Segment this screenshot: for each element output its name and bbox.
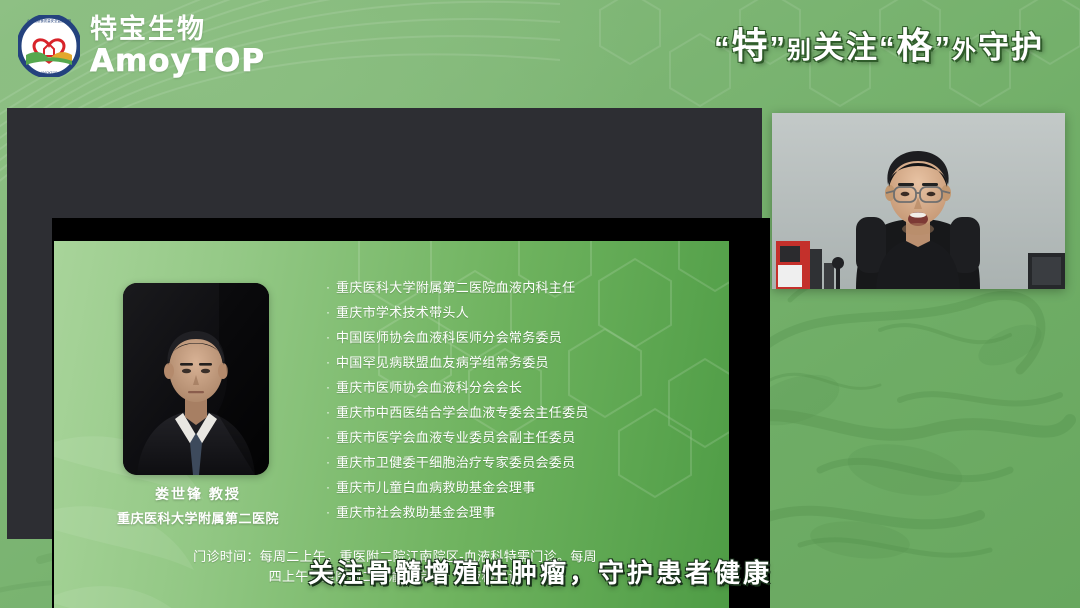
title-quote-close-1: ” [769,30,787,65]
credential-text: 重庆医科大学附属第二医院血液内科主任 [336,277,575,298]
speaker-identity: 娄世锋 教授 重庆医科大学附属第二医院 [78,484,318,527]
bullet-marker-icon: · [320,302,336,323]
credentials-list: · 重庆医科大学附属第二医院血液内科主任 · 重庆市学术技术带头人 · 中国医师… [320,277,720,527]
sponsor-brand: 山东省粮食质量安全监管监测 · AMOYTOP · 特宝生物 AmoyTOP [18,14,265,77]
bullet-marker-icon: · [320,377,336,398]
brand-name-cn: 特宝生物 [90,16,265,43]
speaker-video-tile[interactable] [772,113,1065,289]
title-char-wai: 外 [952,37,978,64]
bullet-marker-icon: · [320,427,336,448]
title-word-guanzhu: 关注 [813,30,879,65]
bullet-marker-icon: · [320,327,336,348]
brand-wordmark: 特宝生物 AmoyTOP [90,16,265,77]
title-quote-open-1: “ [714,30,732,65]
list-item: · 重庆市儿童白血病救助基金会理事 [320,477,720,498]
credential-text: 重庆市卫健委干细胞治疗专家委员会委员 [336,452,575,473]
brand-name-en: AmoyTOP [90,46,265,77]
svg-text:山东省粮食质量安全监管监测: 山东省粮食质量安全监管监测 [27,18,72,23]
list-item: · 重庆医科大学附属第二医院血液内科主任 [320,277,720,298]
credential-text: 重庆市医师协会血液科分会会长 [336,377,522,398]
title-quote-open-2: “ [879,30,897,65]
program-header: 山东省粮食质量安全监管监测 · AMOYTOP · 特宝生物 AmoyTOP “… [0,0,1080,108]
speaker-name: 娄世锋 教授 [78,484,318,504]
list-item: · 重庆市医学会血液专业委员会副主任委员 [320,427,720,448]
program-caption: 关注骨髓增殖性肿瘤，守护患者健康 [0,553,1080,590]
title-word-shouhu: 守护 [978,30,1044,65]
credential-text: 重庆市儿童白血病救助基金会理事 [336,477,536,498]
list-item: · 中国医师协会血液科医师分会常务委员 [320,327,720,348]
title-char-bie: 别 [787,37,813,64]
credential-text: 重庆市学术技术带头人 [336,302,469,323]
bullet-marker-icon: · [320,352,336,373]
list-item: · 重庆市社会救助基金会理事 [320,502,720,523]
screen-share-panel[interactable]: 娄世锋 教授 重庆医科大学附属第二医院 · 重庆医科大学附属第二医院血液内科主任… [7,108,762,539]
svg-text:· AMOYTOP ·: · AMOYTOP · [39,71,60,75]
credential-text: 中国罕见病联盟血友病学组常务委员 [336,352,549,373]
title-char-te: 特 [731,25,769,66]
speaker-affiliation: 重庆医科大学附属第二医院 [78,508,318,527]
list-item: · 中国罕见病联盟血友病学组常务委员 [320,352,720,373]
bullet-marker-icon: · [320,477,336,498]
bullet-marker-icon: · [320,402,336,423]
credential-text: 重庆市医学会血液专业委员会副主任委员 [336,427,575,448]
heart-field-emblem-icon: 山东省粮食质量安全监管监测 · AMOYTOP · [18,15,80,77]
credential-text: 重庆市社会救助基金会理事 [336,502,496,523]
bullet-marker-icon: · [320,452,336,473]
list-item: · 重庆市卫健委干细胞治疗专家委员会委员 [320,452,720,473]
program-title: “特”别关注“格”外守护 [714,17,1044,69]
credential-text: 重庆市中西医结合学会血液专委会主任委员 [336,402,589,423]
bullet-marker-icon: · [320,277,336,298]
title-quote-close-2: ” [935,30,953,65]
speaker-portrait [123,283,269,475]
title-char-ge: 格 [896,25,934,66]
credential-text: 中国医师协会血液科医师分会常务委员 [336,327,562,348]
list-item: · 重庆市医师协会血液科分会会长 [320,377,720,398]
list-item: · 重庆市学术技术带头人 [320,302,720,323]
list-item: · 重庆市中西医结合学会血液专委会主任委员 [320,402,720,423]
broadcast-stage: 山东省粮食质量安全监管监测 · AMOYTOP · 特宝生物 AmoyTOP “… [0,0,1080,608]
bullet-marker-icon: · [320,502,336,523]
